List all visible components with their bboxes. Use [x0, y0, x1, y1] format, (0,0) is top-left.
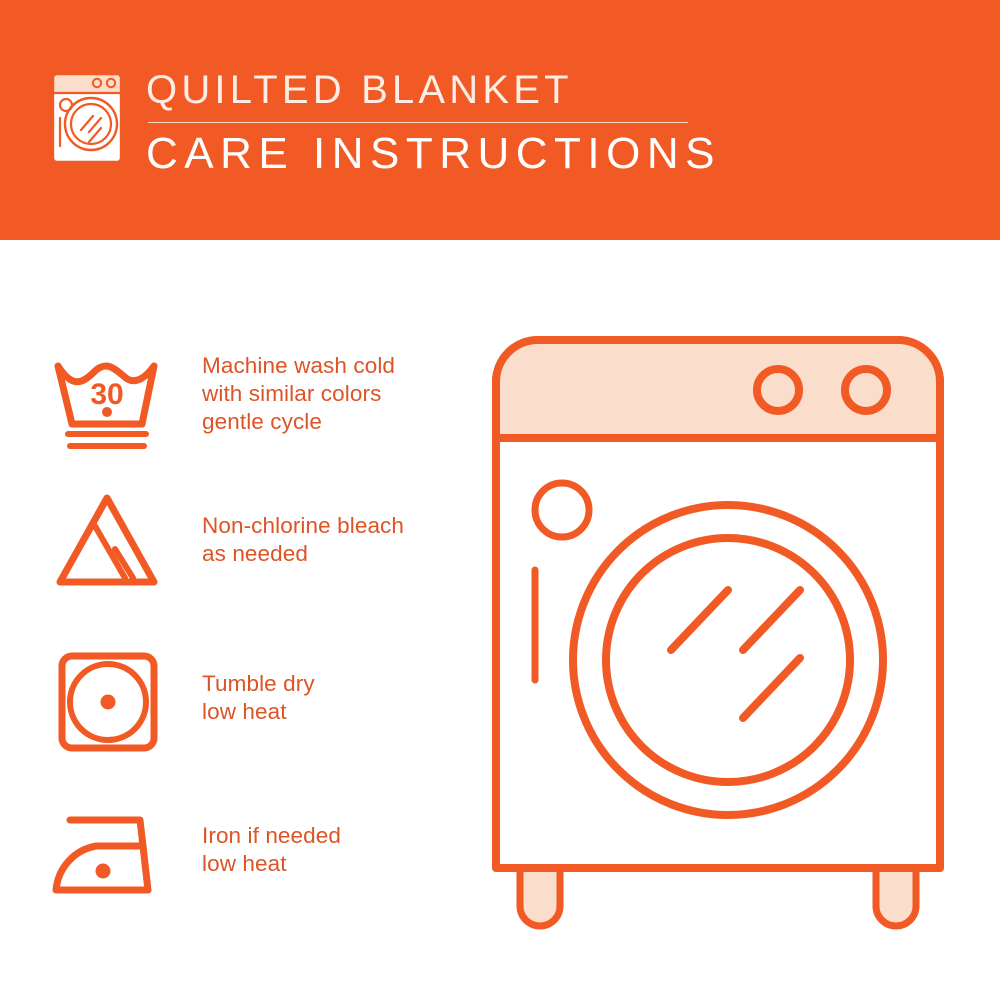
care-instructions-infographic: QUILTED BLANKET CARE INSTRUCTIONS 30: [0, 0, 1000, 1000]
page-title: QUILTED BLANKET: [146, 66, 706, 114]
care-text-line: low heat: [202, 698, 470, 726]
care-item-bleach: Non-chlorine bleach as needed: [0, 480, 470, 630]
care-text-line: Non-chlorine bleach: [202, 512, 470, 540]
care-item-iron: Iron if needed low heat: [0, 790, 470, 940]
washing-machine-illustration: [478, 320, 978, 940]
care-item-tumble-dry: Tumble dry low heat: [0, 640, 470, 790]
wash-tub-30-gentle-icon: 30: [48, 342, 168, 462]
control-panel: [496, 340, 940, 438]
title-divider: [148, 122, 688, 123]
header-title-block: QUILTED BLANKET CARE INSTRUCTIONS: [146, 66, 706, 180]
wash-temperature-value: 30: [90, 378, 123, 411]
care-item-machine-wash-text: Machine wash cold with similar colors ge…: [202, 352, 470, 436]
care-text-line: with similar colors: [202, 380, 470, 408]
care-text-line: Tumble dry: [202, 670, 470, 698]
non-chlorine-bleach-triangle-icon: [48, 486, 168, 606]
care-text-line: low heat: [202, 850, 470, 878]
washing-machine-icon: [45, 62, 137, 174]
care-text-line: gentle cycle: [202, 408, 470, 436]
tumble-dry-low-heat-icon: [48, 642, 168, 762]
care-instruction-list: 30 Machine wash cold with similar colors…: [0, 240, 470, 1000]
care-item-tumble-dry-text: Tumble dry low heat: [202, 670, 470, 726]
iron-low-heat-icon: [48, 798, 168, 918]
care-text-line: Machine wash cold: [202, 352, 470, 380]
care-item-iron-text: Iron if needed low heat: [202, 822, 470, 878]
care-item-bleach-text: Non-chlorine bleach as needed: [202, 512, 470, 568]
care-text-line: as needed: [202, 540, 470, 568]
header-banner: QUILTED BLANKET CARE INSTRUCTIONS: [0, 0, 1000, 240]
care-item-machine-wash: 30 Machine wash cold with similar colors…: [0, 340, 470, 490]
care-text-line: Iron if needed: [202, 822, 470, 850]
page-subtitle: CARE INSTRUCTIONS: [146, 128, 706, 180]
